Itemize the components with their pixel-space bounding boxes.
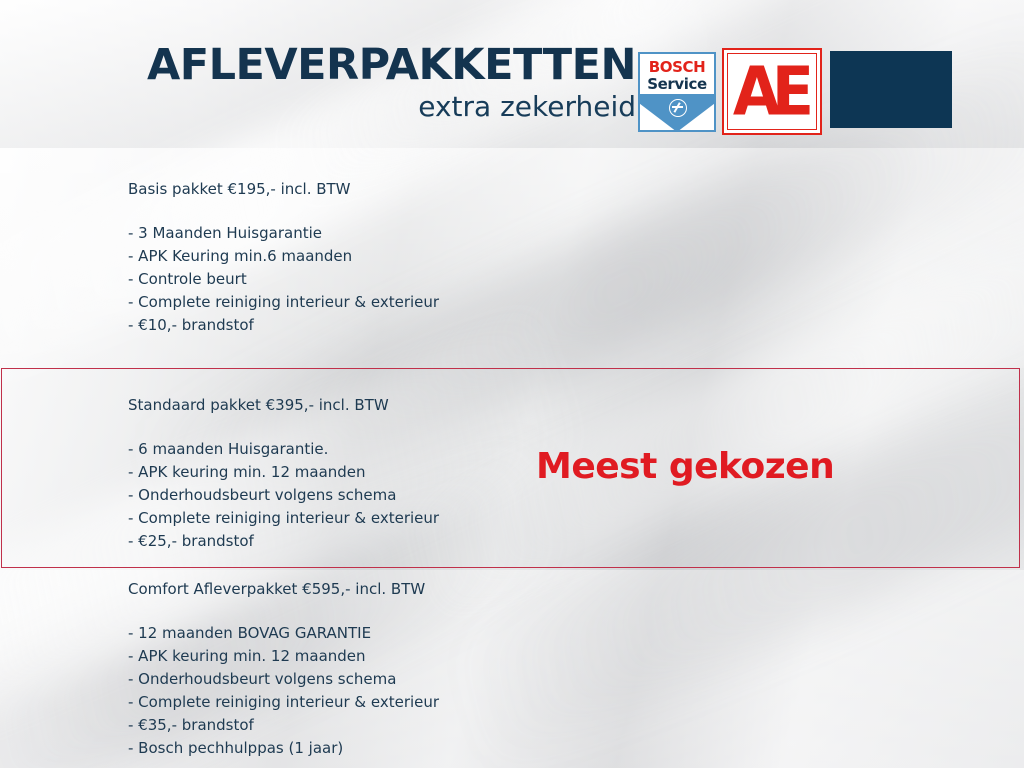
package-item: - APK keuring min. 12 maanden: [128, 645, 688, 668]
package-title: Standaard pakket €395,- incl. BTW: [128, 394, 688, 416]
package-item: - €35,- brandstof: [128, 714, 688, 737]
package-item: - €10,- brandstof: [128, 314, 688, 337]
package-item: - Complete reiniging interieur & exterie…: [128, 291, 688, 314]
package-item: - 3 Maanden Huisgarantie: [128, 222, 688, 245]
spacer: [128, 200, 688, 222]
ae-wordmark: AE: [733, 58, 811, 125]
package-item: - Complete reiniging interieur & exterie…: [128, 691, 688, 714]
bosch-wordmark: BOSCH: [640, 59, 714, 75]
package-item: - Complete reiniging interieur & exterie…: [128, 507, 688, 530]
package-item: - Bosch pechhulppas (1 jaar): [128, 737, 688, 760]
bosch-armature-icon: [669, 99, 687, 117]
slide-header: AFLEVERPAKKETTEN extra zekerheid BOSCH S…: [0, 0, 1024, 148]
package-basis: Basis pakket €195,- incl. BTW - 3 Maande…: [128, 178, 688, 337]
package-item: - APK Keuring min.6 maanden: [128, 245, 688, 268]
spacer: [128, 600, 688, 622]
navy-logo-block: [830, 51, 952, 128]
package-item: - Onderhoudsbeurt volgens schema: [128, 668, 688, 691]
package-title: Comfort Afleverpakket €595,- incl. BTW: [128, 578, 688, 600]
page-title: AFLEVERPAKKETTEN: [88, 42, 636, 88]
bosch-service-label: Service: [640, 76, 714, 92]
bosch-service-logo: BOSCH Service: [638, 52, 716, 132]
package-item: - Controle beurt: [128, 268, 688, 291]
slide-canvas: AFLEVERPAKKETTEN extra zekerheid BOSCH S…: [0, 0, 1024, 768]
most-chosen-label: Meest gekozen: [536, 446, 834, 488]
ae-logo: AE: [722, 48, 822, 135]
package-item: - 12 maanden BOVAG GARANTIE: [128, 622, 688, 645]
ae-logo-frame: AE: [727, 53, 817, 130]
page-subtitle: extra zekerheid: [88, 90, 636, 124]
title-block: AFLEVERPAKKETTEN extra zekerheid: [88, 42, 636, 124]
spacer: [128, 416, 688, 438]
package-comfort: Comfort Afleverpakket €595,- incl. BTW -…: [128, 578, 688, 760]
package-item: - €25,- brandstof: [128, 530, 688, 553]
package-title: Basis pakket €195,- incl. BTW: [128, 178, 688, 200]
